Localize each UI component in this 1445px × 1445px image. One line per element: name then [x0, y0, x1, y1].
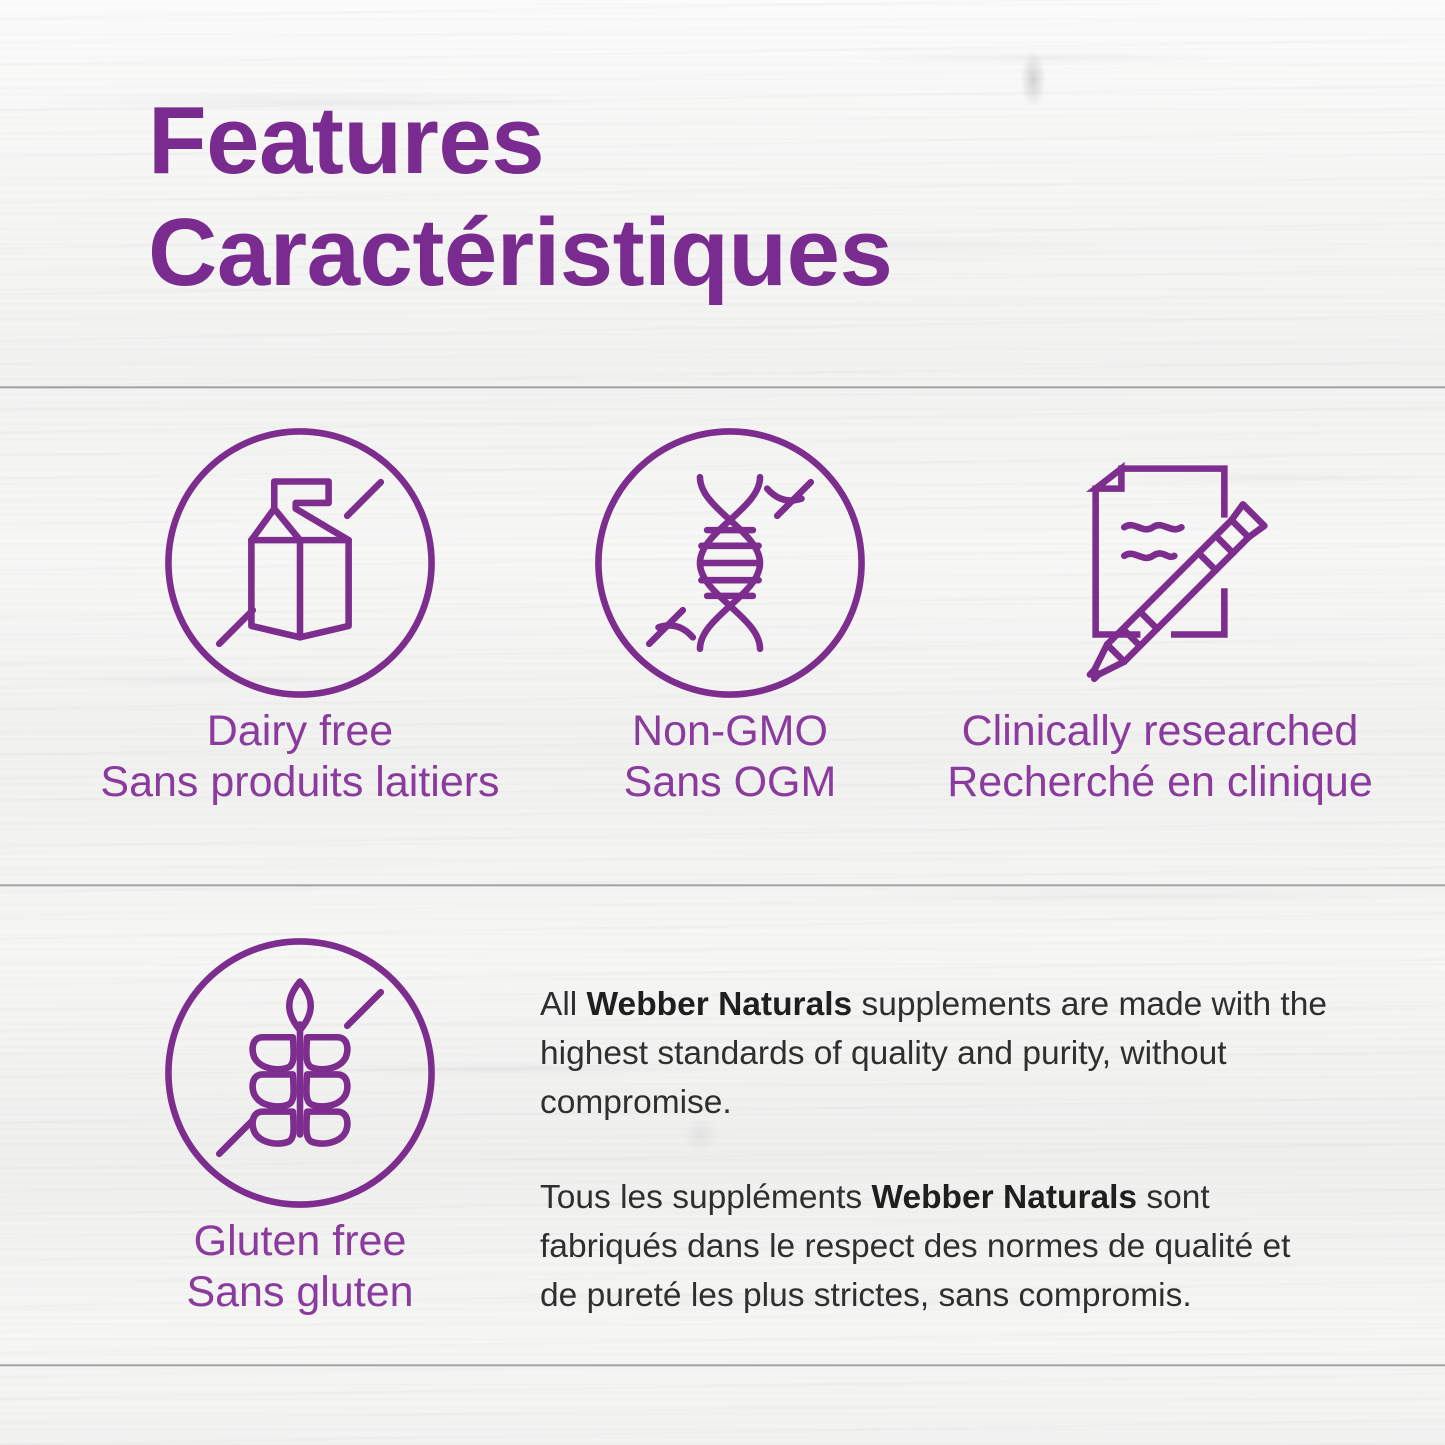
feature-label-fr: Sans gluten — [30, 1267, 570, 1318]
feature-non-gmo-label: Non-GMO Sans OGM — [490, 706, 970, 807]
feature-non-gmo: Non-GMO Sans OGM — [490, 420, 970, 807]
page-title: Features Caractéristiques — [148, 92, 1328, 302]
feature-clinically-researched: Clinically researched Recherché en clini… — [900, 420, 1420, 807]
feature-label-fr: Sans OGM — [490, 757, 970, 808]
no-gmo-dna-icon-wrap — [490, 420, 970, 706]
no-gmo-dna-icon — [587, 420, 873, 706]
plank-seam-bottom — [0, 1364, 1445, 1367]
feature-label-fr: Recherché en clinique — [900, 757, 1420, 808]
body-copy-english: All Webber Naturals supplements are made… — [540, 980, 1330, 1128]
no-dairy-icon-wrap — [30, 420, 570, 706]
brand-name-french: Webber Naturals — [871, 1179, 1137, 1216]
clipboard-pen-icon-wrap — [900, 420, 1420, 706]
no-gluten-wheat-icon — [157, 930, 443, 1216]
page-title-english: Features — [148, 92, 1328, 190]
plank-seam-middle — [0, 884, 1445, 887]
feature-label-en: Non-GMO — [490, 706, 970, 757]
features-infographic: Features Caractéristiques — [0, 0, 1445, 1445]
feature-label-en: Clinically researched — [900, 706, 1420, 757]
clipboard-pen-icon — [1017, 420, 1303, 706]
body-copy-french-before: Tous les suppléments — [540, 1179, 871, 1216]
no-gluten-wheat-icon-wrap — [30, 930, 570, 1216]
feature-label-en: Gluten free — [30, 1216, 570, 1267]
plank-seam-top — [0, 386, 1445, 389]
body-copy: All Webber Naturals supplements are made… — [540, 980, 1330, 1320]
feature-gluten-free-label: Gluten free Sans gluten — [30, 1216, 570, 1317]
feature-dairy-free-label: Dairy free Sans produits laitiers — [30, 706, 570, 807]
page-title-french: Caractéristiques — [148, 204, 1328, 302]
feature-label-en: Dairy free — [30, 706, 570, 757]
brand-name-english: Webber Naturals — [587, 986, 853, 1023]
feature-label-fr: Sans produits laitiers — [30, 757, 570, 808]
feature-gluten-free: Gluten free Sans gluten — [30, 930, 570, 1317]
feature-dairy-free: Dairy free Sans produits laitiers — [30, 420, 570, 807]
body-copy-english-before: All — [540, 986, 587, 1023]
body-copy-french: Tous les suppléments Webber Naturals son… — [540, 1173, 1330, 1321]
feature-clinically-researched-label: Clinically researched Recherché en clini… — [900, 706, 1420, 807]
no-dairy-icon — [157, 420, 443, 706]
